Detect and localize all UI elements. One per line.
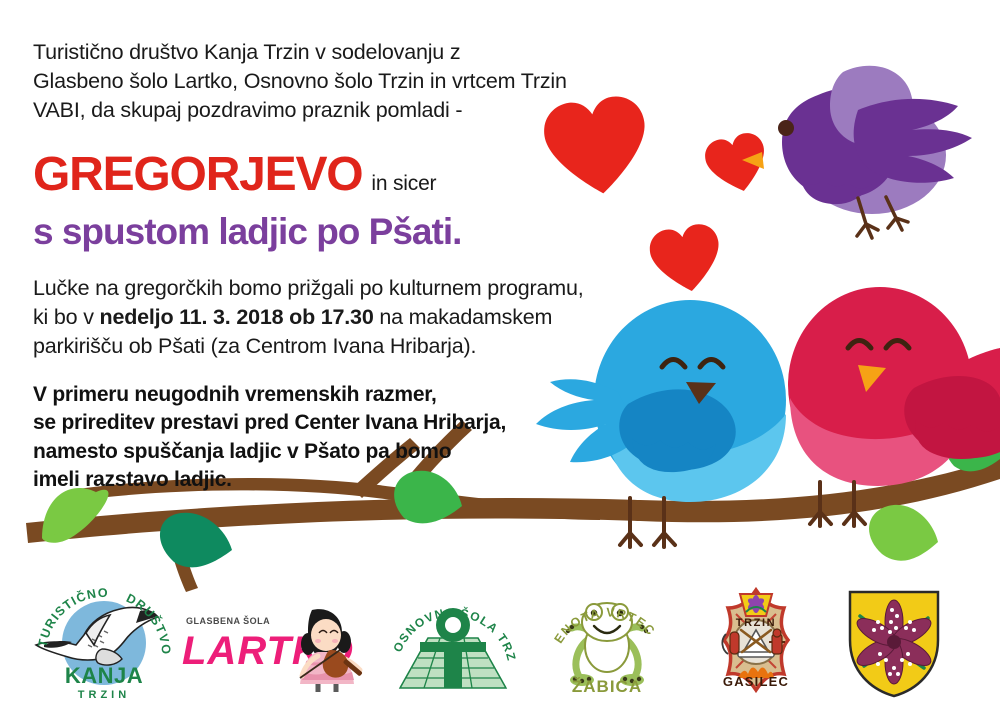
logo-td-kanja-trzin[interactable]: TURISTIČNO DRUŠTVO KANJA TRZIN KANJA <box>24 583 184 703</box>
logo-kanja-subtitle: TRZIN <box>78 689 130 701</box>
details-paragraph: Lučke na gregorčkih bomo prižgali po kul… <box>33 274 633 361</box>
subtitle-text: s spustom ladjic po Pšati <box>33 211 452 252</box>
event-datetime: nedeljo 11. 3. 2018 ob 17.30 <box>100 305 374 329</box>
headline-suffix: in sicer <box>371 172 436 196</box>
logo-obcina-trzin-grb[interactable]: Trzin coat of arms shield with fritillar… <box>834 584 954 702</box>
heart-beak-icon <box>702 130 773 199</box>
purple-bird-icon <box>742 66 972 238</box>
logo-gasilec-top: TRZIN <box>736 617 776 629</box>
headline-row: GREGORJEVO in sicer <box>33 151 633 199</box>
logo-glasbena-sola-lartko[interactable]: GLASBENA ŠOLA LARTKO <box>178 592 368 692</box>
logo-kanja-title: KANJA <box>65 663 143 688</box>
leaf-light-far-right <box>944 421 1000 472</box>
intro-paragraph: Turistično društvo Kanja Trzin v sodelov… <box>33 38 633 125</box>
subtitle: s spustom ladjic po Pšati. <box>33 213 633 252</box>
logo-trzin-gasilec[interactable]: TRZIN GASILEC GASILEC <box>700 586 812 696</box>
sponsor-logo-strip: TURISTIČNO DRUŠTVO KANJA TRZIN KANJA GLA… <box>0 578 1000 707</box>
poster-text-block: Turistično društvo Kanja Trzin v sodelov… <box>33 38 633 495</box>
logo-osnovna-sola-trzin[interactable]: OSNOVNA ŠOLA TRZIN OSNOVNA ŠOLA TRZIN <box>388 590 518 695</box>
leaf-light-right <box>869 505 938 561</box>
weather-notice: V primeru neugodnih vremenskih razmer, s… <box>33 381 633 495</box>
pink-bird-icon <box>788 287 1000 526</box>
logo-gasilec-bottom: GASILEC <box>723 674 789 689</box>
logo-lartko-eyebrow: GLASBENA ŠOLA <box>186 615 270 626</box>
poster-canvas: Turistično društvo Kanja Trzin v sodelov… <box>0 0 1000 707</box>
logo-zabica-bottom: ŽABICA <box>572 677 642 696</box>
page-title: GREGORJEVO <box>33 151 362 199</box>
leaf-dark-center <box>160 513 232 568</box>
leaf-light-left <box>42 488 108 543</box>
subtitle-period: . <box>452 211 461 252</box>
logo-enota-vrtec-zabica[interactable]: ENOTA VRTEC ŽABICA ŽABICA <box>542 586 672 696</box>
violin-girl-illustration <box>300 609 367 692</box>
heart-small-icon <box>647 221 726 297</box>
